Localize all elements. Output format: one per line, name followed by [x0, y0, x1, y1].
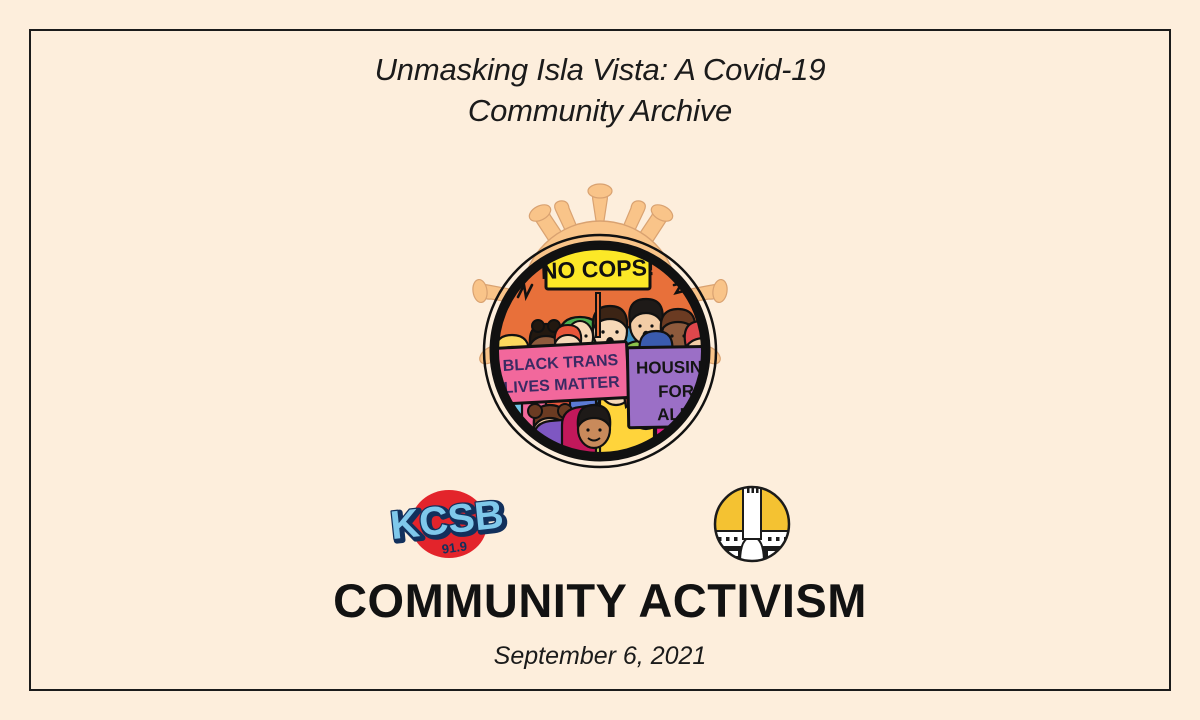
covid-protest-illustration: NO COPS! BLACK TRANS LIVES MATTER HOUSIN… [450, 139, 750, 469]
episode-title: COMMUNITY ACTIVISM [333, 573, 867, 628]
episode-date: September 6, 2021 [494, 642, 707, 671]
kcsb-logo[interactable]: KCSB KCSB 91.9 [389, 479, 509, 569]
ucsb-library-logo[interactable] [702, 469, 802, 569]
archive-title: Unmasking Isla Vista: A Covid-19 Communi… [375, 49, 826, 131]
storke-tower [743, 475, 761, 539]
presentation-slide: Unmasking Isla Vista: A Covid-19 Communi… [0, 0, 1200, 720]
slide-content: Unmasking Isla Vista: A Covid-19 Communi… [29, 29, 1171, 691]
sign-black-trans-lives-matter: BLACK TRANS LIVES MATTER [493, 342, 630, 405]
svg-text:FOR: FOR [658, 382, 694, 402]
logos-row: KCSB KCSB 91.9 [29, 461, 1171, 571]
